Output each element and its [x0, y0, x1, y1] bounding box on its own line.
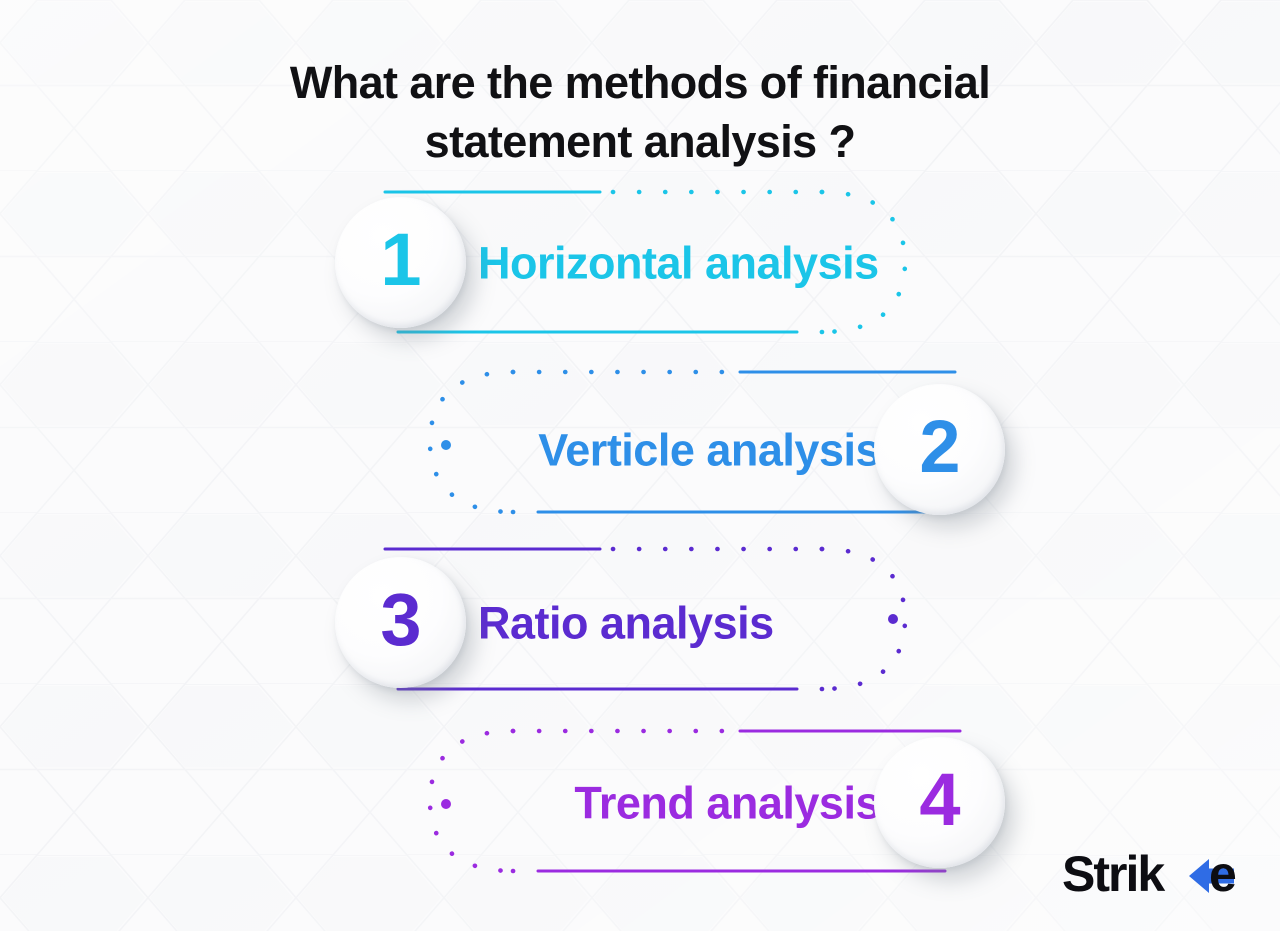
logo-text-e: e: [1209, 847, 1236, 902]
page-title-line-1: What are the methods of financial: [0, 54, 1280, 113]
method-number-2: 2: [919, 410, 959, 484]
method-number-badge-3: 3: [335, 557, 466, 688]
logo-text-stri: Stri: [1062, 847, 1137, 902]
method-row-3[interactable]: 3 Ratio analysis: [0, 530, 1280, 715]
method-number-1: 1: [380, 223, 420, 297]
method-row-1[interactable]: 1 Horizontal analysis: [0, 170, 1280, 355]
method-label-1: Horizontal analysis: [478, 240, 879, 285]
method-number-3: 3: [380, 583, 420, 657]
method-label-2: Verticle analysis: [538, 427, 880, 472]
strike-logo[interactable]: Strik e: [1062, 847, 1252, 905]
page-title: What are the methods of financial statem…: [0, 54, 1280, 171]
method-number-badge-4: 4: [874, 737, 1005, 868]
method-row-2[interactable]: 2 Verticle analysis: [0, 357, 1280, 542]
svg-text:Strik: Strik: [1062, 847, 1165, 902]
method-number-4: 4: [919, 763, 959, 837]
logo-text-k: k: [1137, 847, 1165, 902]
page-title-line-2: statement analysis ?: [0, 113, 1280, 172]
method-label-3: Ratio analysis: [478, 600, 774, 645]
method-number-badge-1: 1: [335, 197, 466, 328]
method-label-4: Trend analysis: [574, 780, 880, 825]
strike-logo-mark: Strik e: [1062, 847, 1252, 905]
method-number-badge-2: 2: [874, 384, 1005, 515]
